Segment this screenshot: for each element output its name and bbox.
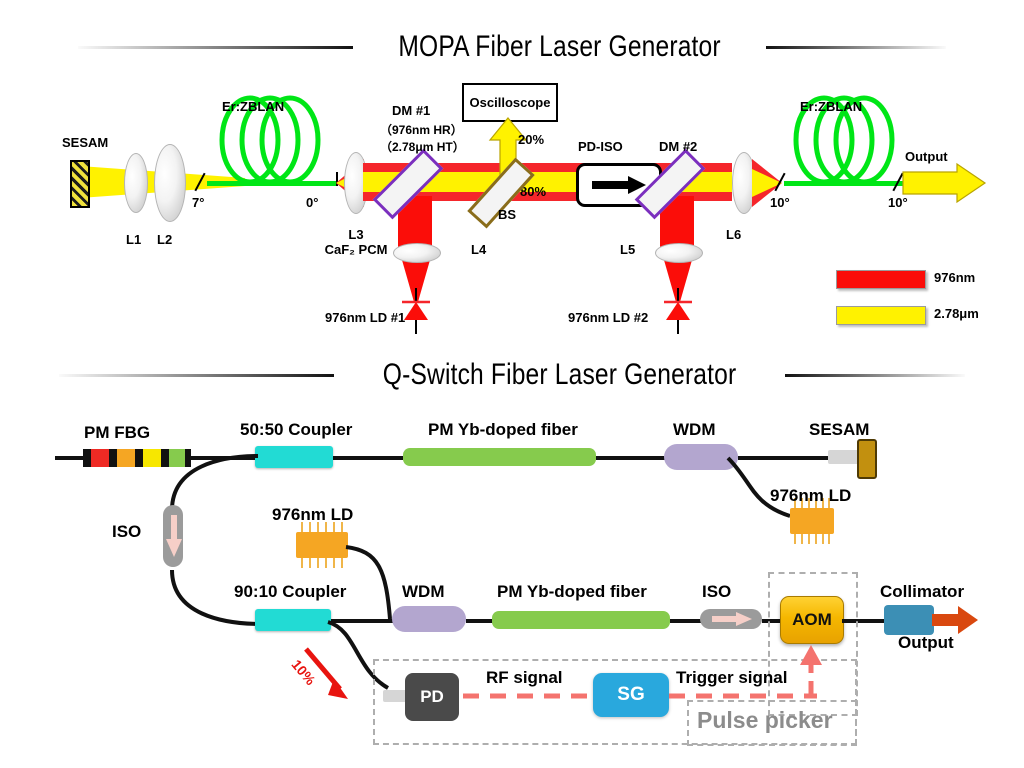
- bs-label: BS: [498, 208, 516, 222]
- laser-diode-mid-label: 976nm LD: [272, 506, 353, 524]
- sesam-label: SESAM: [62, 136, 108, 150]
- output-arrow-qswitch: [932, 606, 980, 634]
- lens-l5-label: L5: [620, 243, 635, 257]
- title-rule-left: [78, 46, 353, 49]
- lens-l3-label: L3: [316, 228, 396, 242]
- er-zblan-right-label: Er:ZBLAN: [800, 100, 862, 114]
- wdm-bottom-label: WDM: [402, 583, 444, 601]
- laser-diode-mid-pins: [296, 522, 348, 568]
- yb-fiber-top-label: PM Yb-doped fiber: [428, 421, 578, 439]
- ld2-label: 976nm LD #2: [568, 311, 648, 325]
- oscilloscope-box: Oscilloscope: [462, 83, 558, 122]
- photodetector: PD: [405, 673, 459, 721]
- pulse-picker-label: Pulse picker: [697, 708, 833, 732]
- isolator-left-label: ISO: [112, 523, 141, 541]
- trigger-arrow-to-aom: [797, 645, 825, 700]
- isolator-right-label: ISO: [702, 583, 731, 601]
- sg-label: SG: [617, 684, 644, 706]
- yb-fiber-bottom-label: PM Yb-doped fiber: [497, 583, 647, 601]
- rf-signal-label: RF signal: [486, 669, 563, 687]
- output-label-mopa: Output: [905, 150, 948, 164]
- collimator-label: Collimator: [880, 583, 964, 601]
- sesam-ferrule: [828, 450, 860, 464]
- dm1-label: DM #1: [392, 104, 430, 118]
- fiber-coupler-to-yb-top: [333, 456, 403, 460]
- lens-l5: [655, 243, 703, 263]
- pd-iso-arrow-icon: [592, 176, 648, 194]
- legend-label-976nm: 976nm: [934, 271, 975, 285]
- angle-7-label: 7°: [192, 196, 204, 210]
- lens-l2-label: L2: [157, 233, 172, 247]
- mopa-title-row: MOPA Fiber Laser Generator: [0, 27, 1024, 67]
- legend-swatch-976nm: [836, 270, 926, 289]
- signal-generator: SG: [593, 673, 669, 717]
- lens-l4: [393, 243, 441, 263]
- yb-fiber-top: [403, 448, 596, 466]
- dm1-hr-spec: （976nm HR）: [380, 124, 463, 137]
- sesam-bottom-label: SESAM: [809, 421, 869, 439]
- fiber-yb-to-wdm-top: [596, 456, 666, 460]
- sesam-bottom: [857, 439, 877, 479]
- qswitch-title-rule-right: [785, 374, 965, 377]
- diagram-canvas: MOPA Fiber Laser Generator SESAM L1 L2 7…: [0, 0, 1024, 768]
- lens-l1-label: L1: [126, 233, 141, 247]
- fiber-yb-to-iso: [670, 619, 702, 623]
- collimator: [884, 605, 934, 635]
- isolator-left-arrow-icon: [166, 515, 182, 559]
- output-arrow-mopa: [903, 164, 987, 202]
- pm-fbg-label: PM FBG: [84, 424, 150, 442]
- sesam-mirror: [70, 160, 90, 208]
- wdm-top-label: WDM: [673, 421, 715, 439]
- pd-iso-label: PD-ISO: [578, 140, 623, 154]
- coupler-90-10-label: 90:10 Coupler: [234, 583, 346, 601]
- legend-label-2780nm: 2.78μm: [934, 307, 979, 321]
- output-label-qswitch: Output: [898, 634, 954, 652]
- title-rule-right: [766, 46, 946, 49]
- mopa-title: MOPA Fiber Laser Generator: [390, 30, 729, 64]
- angle-0-label: 0°: [306, 196, 318, 210]
- lens-l1: [124, 153, 148, 213]
- er-zblan-left-label: Er:ZBLAN: [222, 100, 284, 114]
- yb-fiber-bottom: [492, 611, 670, 629]
- ld1-label: 976nm LD #1: [325, 311, 405, 325]
- isolator-right-arrow-icon: [712, 612, 754, 626]
- split-20-label: 20%: [518, 133, 544, 147]
- lens-l6-label: L6: [726, 228, 741, 242]
- angle-10-left-label: 10°: [770, 196, 790, 210]
- legend-swatch-2780nm: [836, 306, 926, 325]
- split-80-label: 80%: [520, 185, 546, 199]
- rf-signal-line: [463, 690, 593, 702]
- lens-l2: [154, 144, 186, 222]
- coupler-90-10: [255, 609, 331, 631]
- qswitch-title: Q-Switch Fiber Laser Generator: [375, 358, 745, 392]
- laser-diode-2-symbol: [660, 288, 696, 334]
- laser-diode-top-label: 976nm LD: [770, 487, 851, 505]
- dm1-ht-spec: （2.78μm HT）: [380, 141, 465, 154]
- coupler-50-50-label: 50:50 Coupler: [240, 421, 352, 439]
- lens-l3-material-label: CaF₂ PCM: [308, 243, 404, 257]
- lens-l4-label: L4: [471, 243, 486, 257]
- qswitch-title-rule-left: [59, 374, 334, 377]
- oscilloscope-label: Oscilloscope: [470, 95, 551, 110]
- dm2-label: DM #2: [659, 140, 697, 154]
- pd-label: PD: [420, 687, 444, 707]
- qswitch-title-row: Q-Switch Fiber Laser Generator: [0, 355, 1024, 395]
- fiber-wdm-to-yb-bottom: [466, 619, 494, 623]
- trigger-signal-label: Trigger signal: [676, 669, 787, 687]
